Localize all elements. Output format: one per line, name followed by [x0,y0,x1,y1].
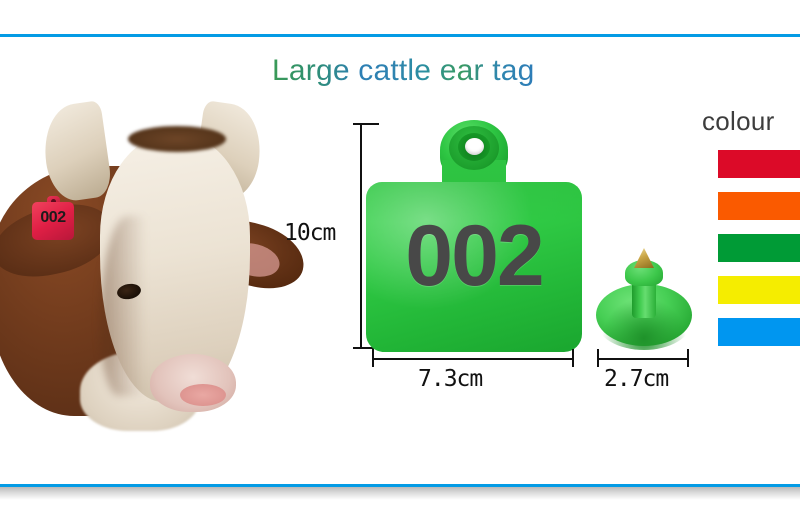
ear-tag-number: 002 [366,208,582,304]
top-accent-rule [0,34,800,37]
colour-swatch-orange[interactable] [718,192,800,220]
height-dimension-label: 10cm [284,220,335,246]
tag-width-dimension-cap-right [572,349,574,367]
cow-ear-tag: 002 [32,196,74,240]
cow-forelock [128,126,226,152]
bottom-shadow-gradient [0,487,800,500]
colour-swatch-green[interactable] [718,234,800,262]
cow-nostril [180,384,226,406]
height-dimension-line [360,123,362,349]
tag-width-dimension-line [372,358,574,360]
button-width-dimension-label: 2.7cm [604,366,668,392]
product-image-canvas: Large cattle ear tag 002 10cm [0,0,800,519]
cow-ear-tag-number: 002 [32,209,74,227]
ear-tag-front: 002 [366,120,582,352]
tag-width-dimension-cap-left [372,349,374,367]
colour-swatch-yellow[interactable] [718,276,800,304]
tag-width-dimension-label: 7.3cm [418,366,482,392]
colour-swatch-blue[interactable] [718,318,800,346]
colour-legend-title: colour [702,106,775,137]
button-width-dimension-cap-right [687,349,689,367]
ear-tag-hole [465,138,484,155]
back-button-metal-tip [634,248,654,268]
colour-swatch-red[interactable] [718,150,800,178]
cow-photo: 002 [0,96,290,406]
ear-tag-back-button [596,248,692,350]
button-width-dimension-line [597,358,689,360]
button-width-dimension-cap-left [597,349,599,367]
page-title: Large cattle ear tag [272,54,535,88]
